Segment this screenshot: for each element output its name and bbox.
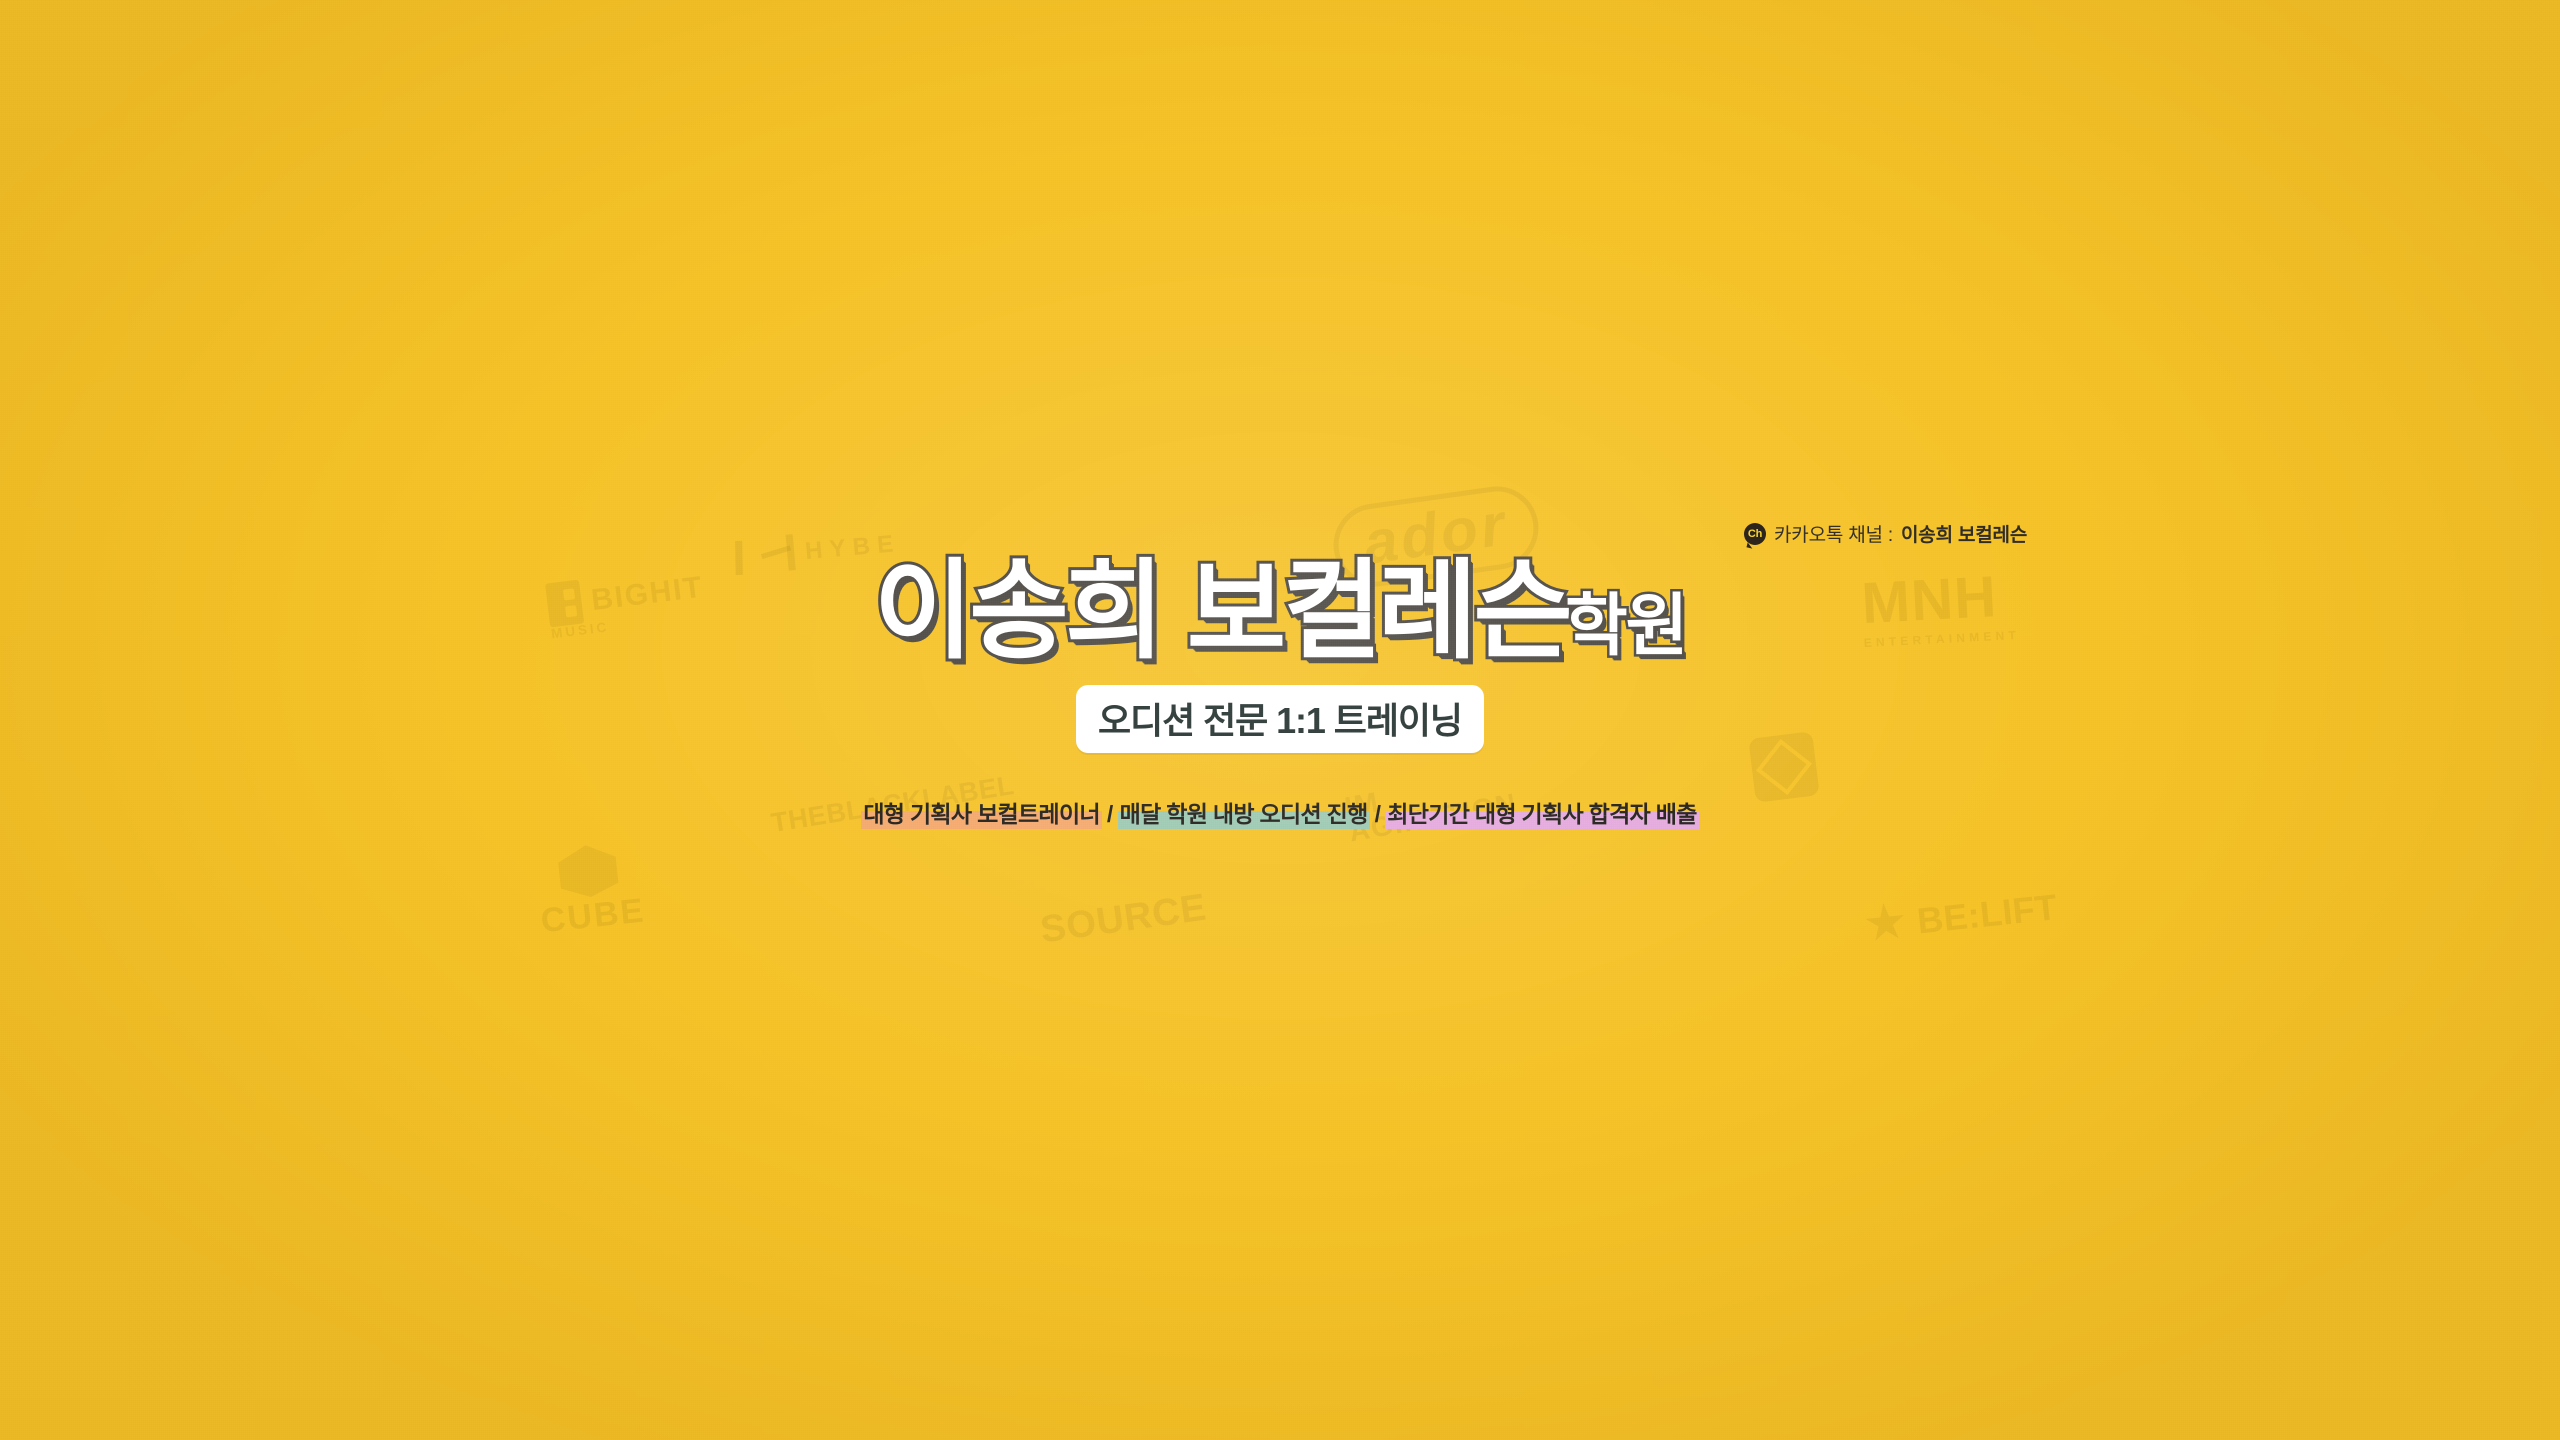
watermark-belift: BE:LIFT — [1863, 885, 2059, 946]
feature-separator-1: / — [1102, 801, 1118, 827]
hero-section: 이송희 보컬레슨 학원 오디션 전문 1:1 트레이닝 대형 기획사 보컬트레이… — [0, 560, 2560, 829]
feature-separator-2: / — [1370, 801, 1386, 827]
cube-logo-icon — [557, 842, 620, 900]
kakao-channel-label: 카카오톡 채널 : — [1774, 520, 1893, 547]
watermark-source: SOURCE — [1038, 889, 1209, 952]
feature-item-3: 최단기간 대형 기획사 합격자 배출 — [1385, 800, 1698, 829]
watermark-belift-label: BE:LIFT — [1915, 886, 2059, 941]
watermark-cube-label: CUBE — [539, 891, 647, 940]
watermark-cube: CUBE — [534, 840, 647, 940]
kakao-channel-name: 이송희 보컬레슨 — [1901, 520, 2027, 547]
kakao-channel-line[interactable]: Ch 카카오톡 채널 : 이송희 보컬레슨 — [1744, 520, 2027, 547]
tagline-badge: 오디션 전문 1:1 트레이닝 — [1076, 685, 1484, 753]
kakao-channel-icon: Ch — [1744, 523, 1766, 545]
tagline-badge-row: 오디션 전문 1:1 트레이닝 — [0, 685, 2560, 753]
belift-star-icon — [1863, 901, 1907, 945]
feature-list: 대형 기획사 보컬트레이너/매달 학원 내방 오디션 진행/최단기간 대형 기획… — [0, 795, 2560, 829]
feature-item-1: 대형 기획사 보컬트레이너 — [861, 800, 1102, 829]
page-title-suffix: 학원 — [1565, 594, 1686, 659]
feature-item-2: 매달 학원 내방 오디션 진행 — [1118, 800, 1370, 829]
page-root: BIGHIT MUSIC HYBE ador MNH ENTERTAINMENT… — [0, 0, 2560, 1440]
page-title: 이송희 보컬레슨 학원 — [0, 560, 2560, 663]
page-title-main: 이송희 보컬레슨 — [874, 560, 1569, 663]
